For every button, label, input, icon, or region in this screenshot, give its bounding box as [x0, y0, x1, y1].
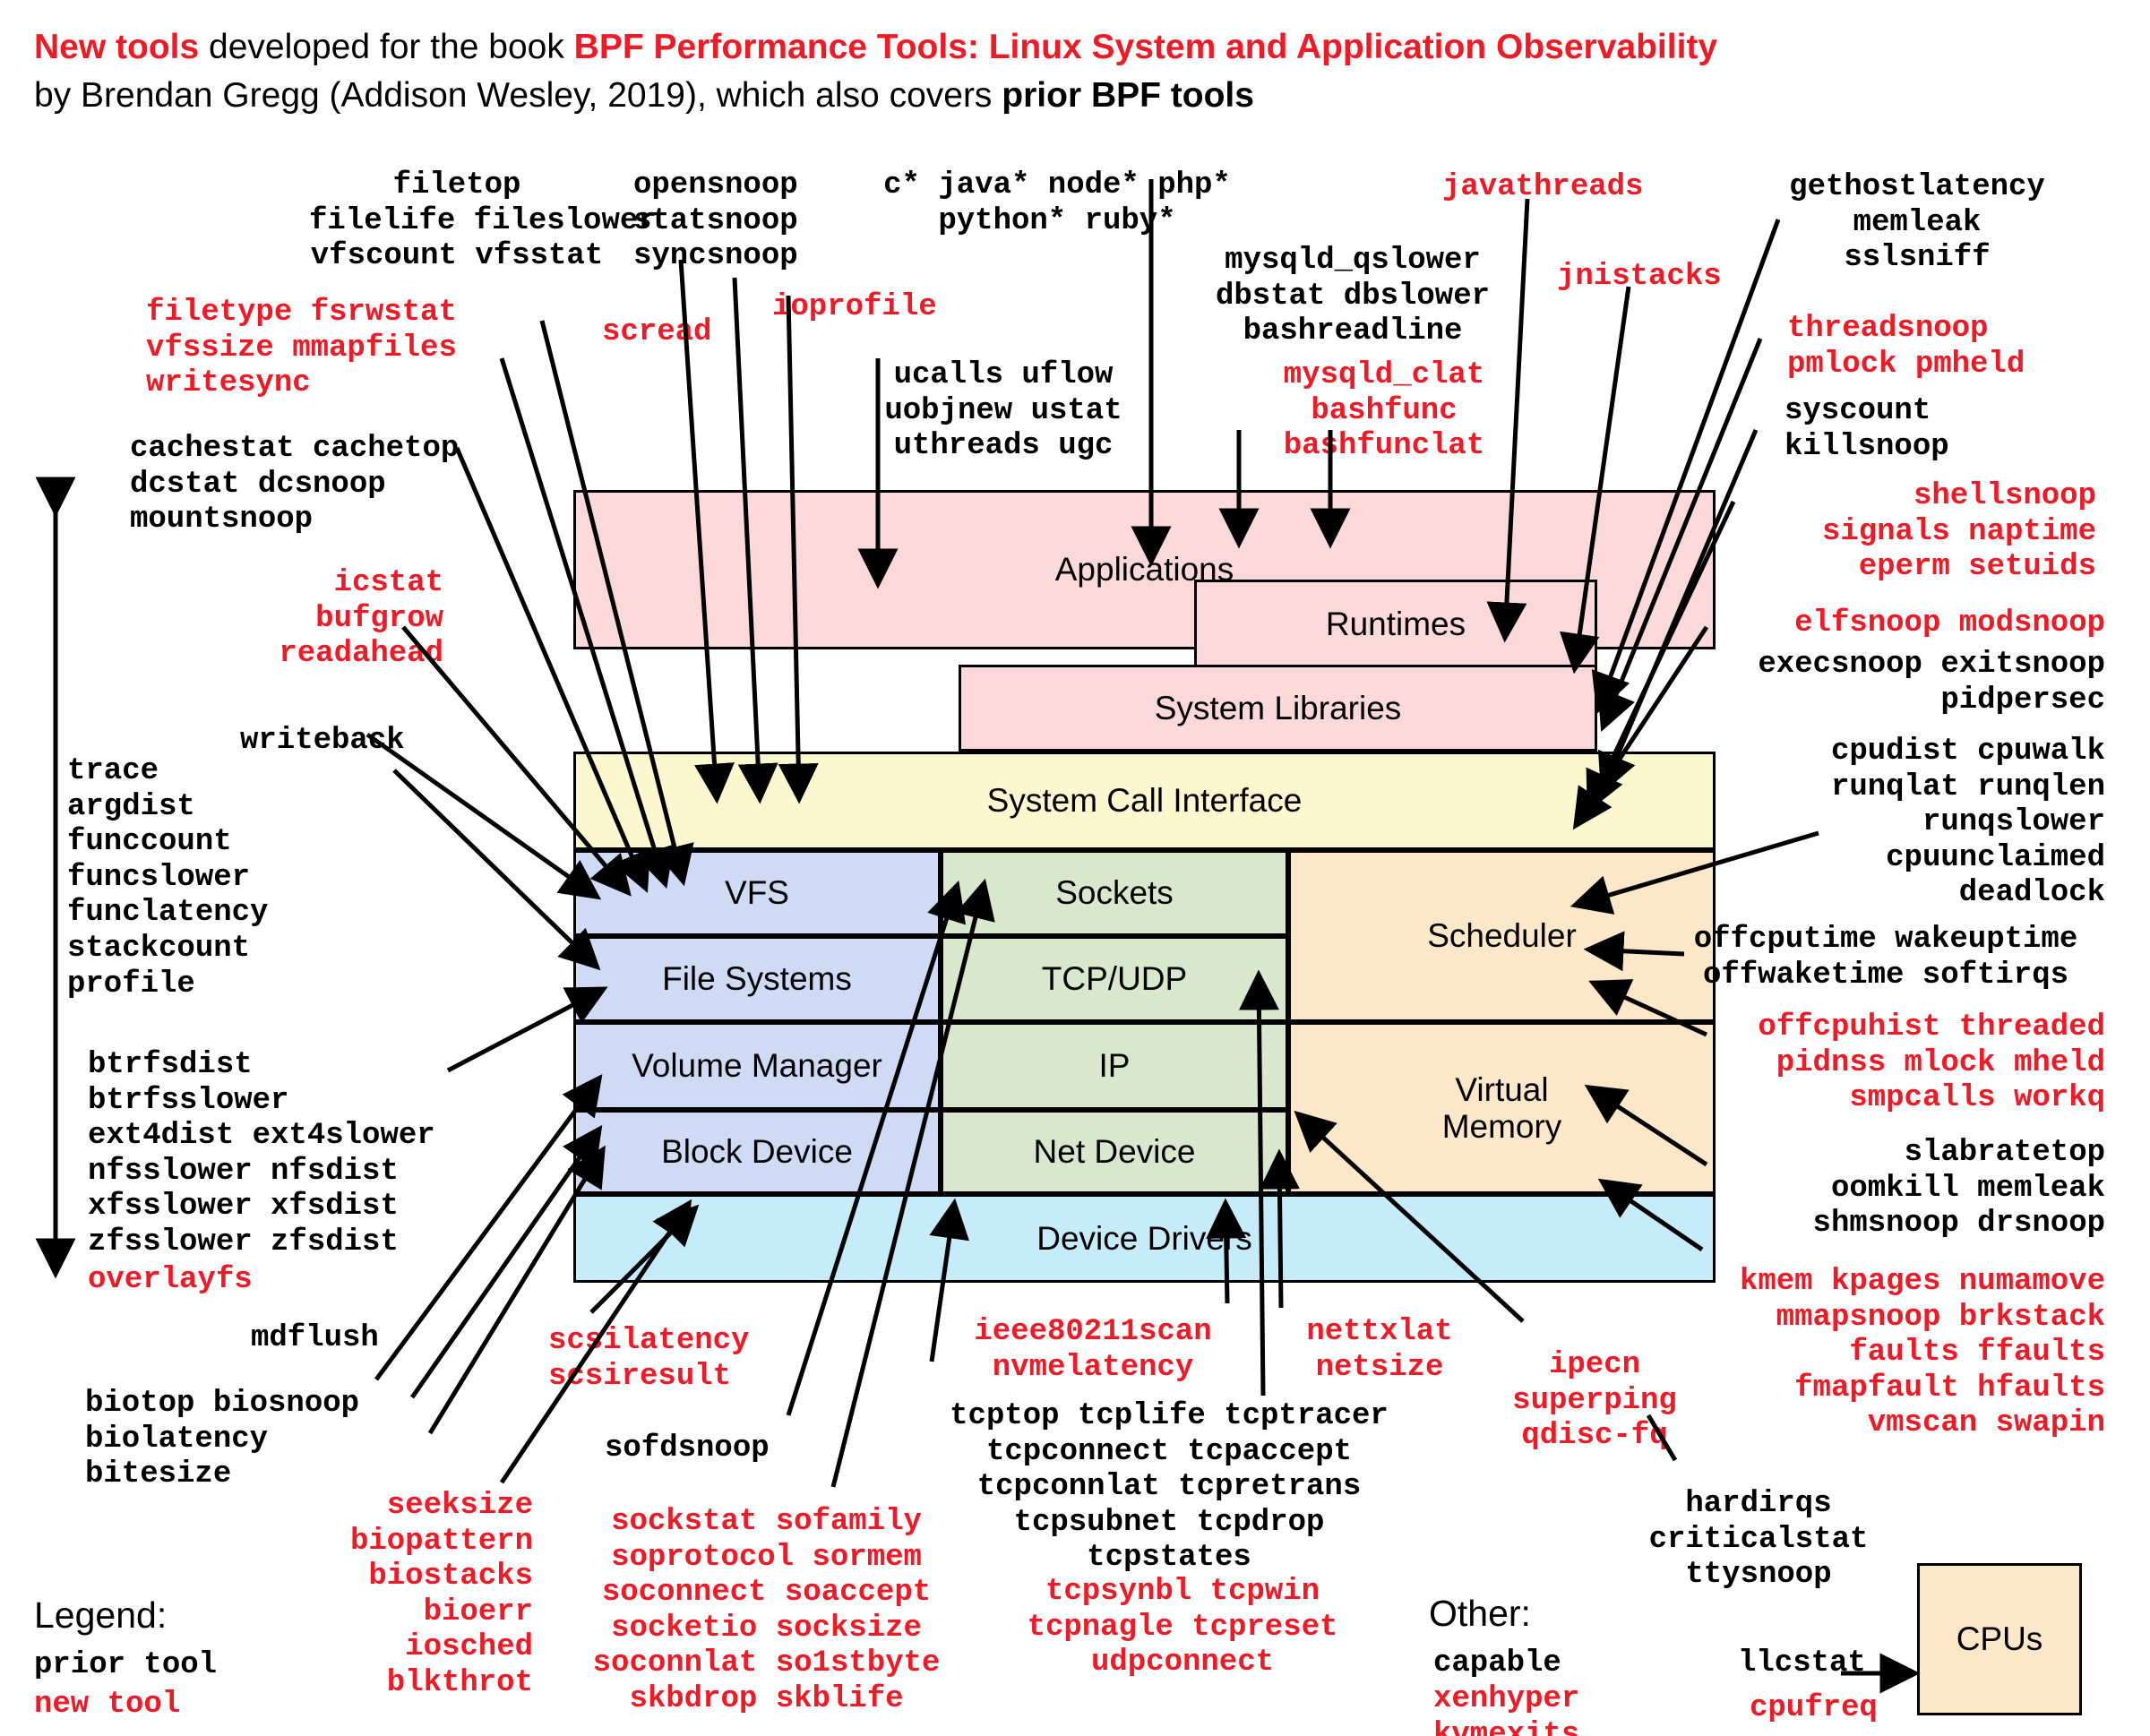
box-label-device-drivers: Device Drivers [1036, 1220, 1252, 1257]
tools-execsnoop: execsnoop exitsnoop pidpersec [1684, 648, 2105, 718]
box-virtual-memory: Virtual Memory [1288, 1022, 1716, 1194]
box-label-cpus: CPUs [1956, 1620, 2043, 1657]
box-label-virtual-memory: Virtual Memory [1442, 1071, 1562, 1146]
tools-fsdist: btrfsdist btrfsslower ext4dist ext4slowe… [88, 1048, 536, 1261]
box-label-vfs: VFS [725, 874, 789, 911]
box-file-systems: File Systems [573, 936, 941, 1022]
tools-trace: trace argdist funccount funcslower funcl… [67, 754, 363, 1002]
other-section-title: Other: [1429, 1593, 1531, 1636]
box-label-scheduler: Scheduler [1427, 917, 1577, 954]
tools-seeksize: seeksize biopattern biostacks bioerr ios… [255, 1489, 533, 1702]
tools-mdflush: mdflush [251, 1321, 502, 1357]
tools-libs: gethostlatency memleak sslsniff [1756, 170, 2078, 277]
box-scheduler: Scheduler [1288, 850, 1716, 1022]
tools-biotop: biotop biosnoop biolatency bitesize [85, 1387, 470, 1493]
box-syscall-interface: System Call Interface [573, 752, 1716, 850]
box-runtimes: Runtimes [1194, 580, 1597, 669]
title-byline: by Brendan Gregg (Addison Wesley, 2019),… [34, 76, 1002, 115]
tools-jnistacks: jnistacks [1557, 260, 1772, 296]
tools-llcstat: llcstat [1738, 1646, 1944, 1682]
tools-other-new: xenhyper kvmexits [1433, 1682, 1579, 1736]
tools-kmem: kmem kpages numamove mmapsnoop brkstack … [1684, 1265, 2105, 1442]
tools-cpudist: cpudist cpuwalk runqlat runqlen runqslow… [1693, 735, 2105, 912]
tools-ieee: ieee80211scan nvmelatency [914, 1315, 1272, 1386]
box-label-runtimes: Runtimes [1326, 606, 1466, 642]
tools-javathreads: javathreads [1442, 170, 1693, 206]
box-sockets: Sockets [941, 850, 1288, 936]
title-prior-tools: prior BPF tools [1002, 76, 1254, 115]
tools-uprobes: ucalls uflow uobjnew ustat uthreads ugc [856, 358, 1151, 465]
title-new-tools: New tools [34, 28, 199, 66]
tools-syscount: syscount killsnoop [1784, 394, 2053, 465]
tools-sofdsnoop: sofdsnoop [605, 1431, 873, 1467]
box-label-block-device: Block Device [661, 1133, 853, 1170]
tools-db: mysqld_qslower dbstat dbslower bashreadl… [1191, 244, 1514, 350]
box-label-file-systems: File Systems [662, 960, 852, 997]
tools-scsi: scsilatency scsiresult [548, 1324, 835, 1395]
legend-new-tool: new tool [34, 1688, 180, 1723]
tools-sockstat: sockstat sofamily soprotocol sormem soco… [563, 1505, 970, 1718]
tools-tcp-new: tcpsynbl tcpwin tcpnagle tcpreset udpcon… [994, 1575, 1371, 1681]
box-label-volume-manager: Volume Manager [632, 1047, 882, 1084]
page-title: New tools developed for the book BPF Per… [34, 23, 2130, 120]
tools-slabratetop: slabratetop oomkill memleak shmsnoop drs… [1693, 1136, 2105, 1242]
box-net-device: Net Device [941, 1110, 1288, 1194]
tools-offcpuhist: offcpuhist threaded pidnss mlock mheld s… [1684, 1010, 2105, 1117]
tools-overlayfs: overlayfs [88, 1263, 357, 1299]
tools-icstat: icstat bufgrow readahead [175, 566, 443, 673]
tools-threadsnoop: threadsnoop pmlock pmheld [1787, 312, 2128, 382]
legend-title: Legend: [34, 1594, 167, 1637]
tools-ipecn: ipecn superping qdisc-fq [1474, 1348, 1716, 1455]
tools-nettxlat: nettxlat netsize [1281, 1315, 1478, 1386]
box-tcp-udp: TCP/UDP [941, 936, 1288, 1022]
tools-db-new: mysqld_clat bashfunc bashfunclat [1250, 358, 1518, 465]
tools-other-capable: capable [1433, 1646, 1561, 1682]
tools-languages: c* java* node* php* python* ruby* [856, 168, 1259, 239]
box-label-net-device: Net Device [1034, 1133, 1196, 1170]
legend-prior-tool: prior tool [34, 1648, 217, 1684]
bpf-tools-diagram: New tools developed for the book BPF Per… [0, 0, 2150, 1736]
box-device-drivers: Device Drivers [573, 1194, 1716, 1283]
box-label-system-libraries: System Libraries [1155, 690, 1402, 726]
tools-syscall-snoop: opensnoop statsnoop syncsnoop [633, 168, 875, 275]
box-ip: IP [941, 1022, 1288, 1110]
box-label-tcp-udp: TCP/UDP [1042, 960, 1187, 997]
title-book-name: BPF Performance Tools: Linux System and … [574, 28, 1717, 66]
tools-elfsnoop: elfsnoop modsnoop [1729, 606, 2105, 642]
tools-ioprofile: ioprofile [772, 290, 1014, 326]
box-vfs: VFS [573, 850, 941, 936]
tools-tcp: tcptop tcplife tcptracer tcpconnect tcpa… [914, 1399, 1424, 1577]
tools-offcputime: offcputime wakeuptime offwaketime softir… [1662, 923, 2110, 993]
tools-file-new: filetype fsrwstat vfssize mmapfiles writ… [146, 296, 522, 402]
tools-hardirqs: hardirqs criticalstat ttysnoop [1611, 1487, 1906, 1594]
box-system-libraries: System Libraries [959, 665, 1597, 752]
title-mid-text: developed for the book [199, 28, 573, 66]
box-label-sockets: Sockets [1055, 874, 1174, 911]
box-label-syscall-interface: System Call Interface [987, 782, 1303, 819]
box-block-device: Block Device [573, 1110, 941, 1194]
tools-cpufreq: cpufreq [1750, 1691, 1956, 1727]
tools-cache: cachestat cachetop dcstat dcsnoop mounts… [130, 432, 542, 538]
box-volume-manager: Volume Manager [573, 1022, 941, 1110]
box-label-ip: IP [1099, 1047, 1131, 1084]
tools-file-top: filetop filelife fileslower vfscount vfs… [309, 168, 605, 275]
tools-shellsnoop: shellsnoop signals naptime eperm setuids [1729, 479, 2096, 586]
